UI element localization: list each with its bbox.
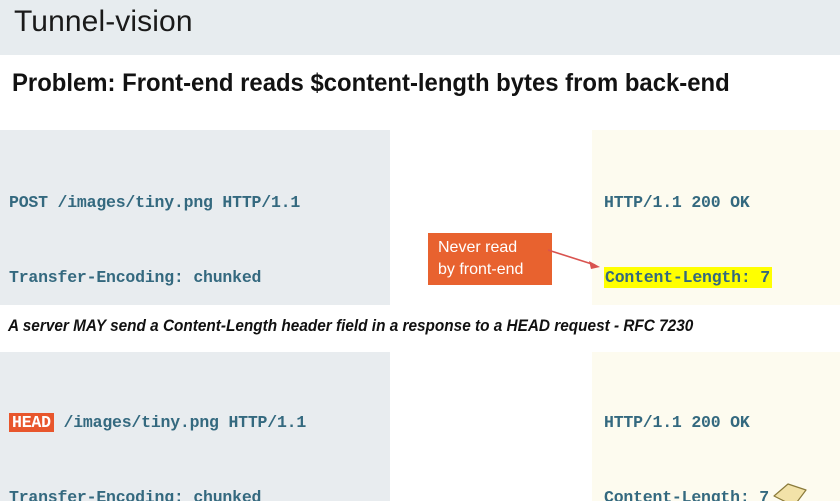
top-left-request-panel: POST /images/tiny.png HTTP/1.1 Transfer-… [0,130,390,305]
pointer-doodle-icon [772,482,812,501]
slide-canvas: Tunnel-vision Problem: Front-end reads $… [0,0,840,501]
code-line-highlighted: Content-Length: 7 [604,265,772,290]
code-line: HTTP/1.1 200 OK [604,410,798,435]
code-line: HEAD /images/tiny.png HTTP/1.1 [9,410,306,435]
bottom-left-code-block: HEAD /images/tiny.png HTTP/1.1 Transfer-… [9,360,306,501]
head-method-highlight: HEAD [9,413,54,432]
bottom-right-code-block: HTTP/1.1 200 OK Content-Length: 7 HTTP/1… [604,360,798,501]
code-line: HTTP/1.1 200 OK [604,190,772,215]
problem-statement: Problem: Front-end reads $content-length… [12,69,730,98]
code-line: Transfer-Encoding: chunked [9,265,300,290]
bottom-left-request-panel: HEAD /images/tiny.png HTTP/1.1 Transfer-… [0,352,390,501]
code-line-rest: /images/tiny.png HTTP/1.1 [54,413,306,432]
top-left-code-block: POST /images/tiny.png HTTP/1.1 Transfer-… [9,140,300,305]
content-length-highlight: Content-Length: 7 [604,267,772,288]
bottom-right-response-panel: HTTP/1.1 200 OK Content-Length: 7 HTTP/1… [592,352,840,501]
top-right-code-block: HTTP/1.1 200 OK Content-Length: 7 conten… [604,140,772,305]
page-title: Tunnel-vision [14,5,193,39]
never-read-callout: Never read by front-end [428,233,552,285]
rfc-quote: A server MAY send a Content-Length heade… [8,317,693,336]
code-line: POST /images/tiny.png HTTP/1.1 [9,190,300,215]
callout-line-2: by front-end [438,259,552,281]
code-line: Transfer-Encoding: chunked [9,485,306,501]
code-line: Content-Length: 7 [604,485,798,501]
top-right-response-panel: HTTP/1.1 200 OK Content-Length: 7 conten… [592,130,840,305]
callout-line-1: Never read [438,237,552,259]
